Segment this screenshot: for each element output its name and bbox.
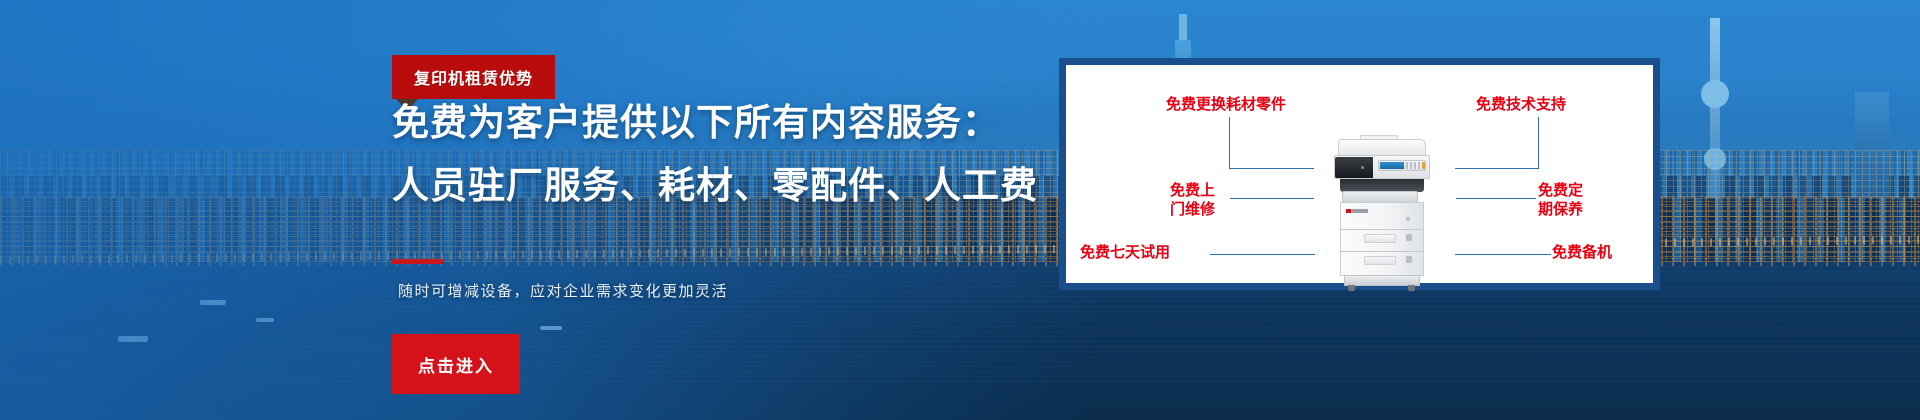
feature-label-replace-parts: 免费更换耗材零件	[1166, 95, 1286, 114]
copier-drawer-divider	[1341, 229, 1423, 230]
leader-line-replace-parts	[1229, 117, 1230, 169]
copier-caster	[1348, 285, 1355, 291]
copier-drawer-handle	[1364, 256, 1396, 265]
copier-document-feeder	[1338, 139, 1426, 156]
feature-label-backup-machine: 免费备机	[1552, 243, 1612, 262]
copier-toner-cover	[1335, 157, 1373, 178]
leader-line-tech-support	[1538, 117, 1539, 169]
leader-line-tech-support	[1455, 168, 1539, 169]
copier-caster	[1408, 285, 1415, 291]
copier-paper-size-badge	[1406, 256, 1412, 263]
feature-label-tech-support: 免费技术支持	[1476, 95, 1566, 114]
headline-line-1: 免费为客户提供以下所有内容服务：	[392, 101, 1032, 145]
banner-copy-block: 复印机租赁优势 免费为客户提供以下所有内容服务： 人员驻厂服务、耗材、零配件、人…	[392, 0, 1032, 420]
subtitle: 随时可增减设备，应对企业需求变化更加灵活	[398, 280, 728, 301]
feature-label-onsite-repair: 免费上 门维修	[1170, 181, 1215, 219]
feature-label-scheduled-maint: 免费定 期保养	[1538, 181, 1583, 219]
promo-tag-badge: 复印机租赁优势	[392, 55, 555, 99]
copier-stop-key	[1422, 162, 1425, 169]
copier-toner-latch	[1361, 166, 1364, 169]
headline: 免费为客户提供以下所有内容服务： 人员驻厂服务、耗材、零配件、人工费	[392, 101, 1032, 208]
copier-drawer-divider	[1341, 251, 1423, 252]
copier-paper-size-badge	[1406, 234, 1412, 241]
copier-drawer-handle	[1364, 234, 1396, 243]
copier-brand-logo	[1346, 209, 1368, 213]
leader-line-seven-day-trial	[1210, 254, 1315, 255]
leader-line-backup-machine	[1455, 254, 1551, 255]
enter-button[interactable]: 点击进入	[392, 334, 520, 394]
copier-touchscreen	[1380, 162, 1404, 169]
leader-line-scheduled-maint	[1456, 198, 1536, 199]
accent-rule	[392, 259, 444, 264]
feature-label-seven-day-trial: 免费七天试用	[1080, 243, 1170, 262]
promo-banner: 复印机租赁优势 免费为客户提供以下所有内容服务： 人员驻厂服务、耗材、零配件、人…	[0, 0, 1920, 420]
copier-product-image	[1334, 139, 1430, 291]
copier-indicator	[1406, 217, 1410, 221]
headline-line-2: 人员驻厂服务、耗材、零配件、人工费	[392, 164, 1032, 208]
feature-card: 免费更换耗材零件 免费技术支持 免费上 门维修 免费定 期保养 免费七天试用 免…	[1059, 58, 1660, 290]
leader-line-onsite-repair	[1230, 198, 1314, 199]
leader-line-replace-parts	[1229, 168, 1314, 169]
